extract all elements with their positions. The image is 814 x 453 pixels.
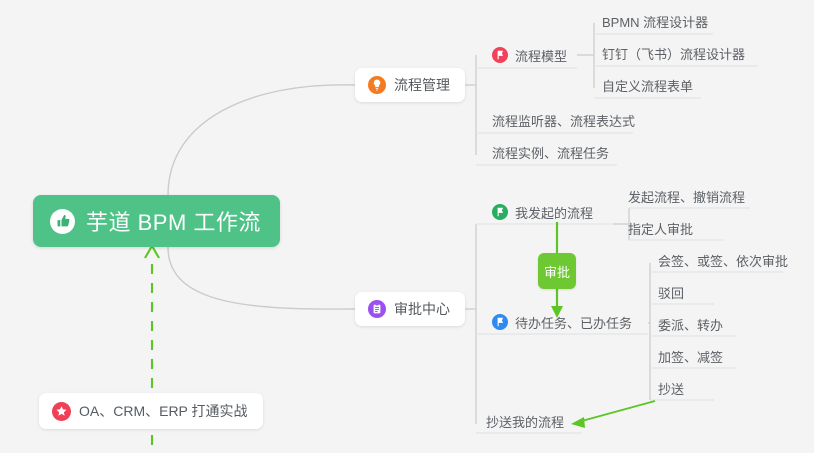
floating-node-integration[interactable]: OA、CRM、ERP 打通实战: [39, 393, 263, 429]
node-bpmn-designer[interactable]: BPMN 流程设计器: [602, 8, 708, 34]
lightbulb-icon: [368, 76, 386, 94]
clipboard-icon: [368, 300, 386, 318]
node-label: 钉钉（飞书）流程设计器: [602, 44, 745, 63]
root-node[interactable]: 芋道 BPM 工作流: [33, 195, 280, 247]
branch-label: 流程管理: [394, 75, 450, 95]
node-label: 委派、转办: [658, 315, 723, 334]
thumbs-up-icon: [50, 209, 75, 234]
root-node-label: 芋道 BPM 工作流: [86, 205, 261, 237]
node-process-instance[interactable]: 流程实例、流程任务: [492, 139, 609, 165]
flow-arrow-cc: [578, 401, 655, 422]
node-countersign[interactable]: 会签、或签、依次审批: [658, 247, 788, 273]
node-label: 抄送: [658, 379, 684, 398]
node-label: 我发起的流程: [515, 203, 593, 222]
branch-label: 审批中心: [394, 299, 450, 319]
mindmap-canvas: 芋道 BPM 工作流 流程管理 流程模型 流程监听器、流程表达式 流程实例、流程…: [0, 0, 814, 453]
node-label: 会签、或签、依次审批: [658, 251, 788, 270]
node-label: 流程监听器、流程表达式: [492, 111, 635, 130]
flag-icon: [492, 314, 508, 330]
node-process-model[interactable]: 流程模型: [492, 42, 567, 68]
node-reject[interactable]: 驳回: [658, 279, 684, 305]
node-label: 流程模型: [515, 46, 567, 65]
node-label: 指定人审批: [628, 219, 693, 238]
link-root-to-process-management: [168, 85, 355, 195]
node-start-cancel-process[interactable]: 发起流程、撤销流程: [628, 183, 745, 209]
node-my-started-processes[interactable]: 我发起的流程: [492, 199, 593, 225]
dashed-arrow-integration-head: [145, 246, 159, 258]
node-todo-done-tasks[interactable]: 待办任务、已办任务: [492, 309, 632, 335]
node-cc[interactable]: 抄送: [658, 375, 684, 401]
branch-approval-center[interactable]: 审批中心: [355, 292, 465, 326]
node-label: 自定义流程表单: [602, 76, 693, 95]
approval-flow-badge-label: 审批: [544, 262, 570, 281]
node-add-remove-sign[interactable]: 加签、减签: [658, 343, 723, 369]
node-custom-form[interactable]: 自定义流程表单: [602, 72, 693, 98]
star-icon: [52, 402, 71, 421]
node-label: BPMN 流程设计器: [602, 12, 708, 31]
node-process-listener[interactable]: 流程监听器、流程表达式: [492, 107, 635, 133]
flow-arrow-cc-head: [571, 417, 585, 428]
node-label: 待办任务、已办任务: [515, 313, 632, 332]
node-label: 驳回: [658, 283, 684, 302]
node-label: 发起流程、撤销流程: [628, 187, 745, 206]
node-assignee-approval[interactable]: 指定人审批: [628, 215, 693, 241]
node-label: 流程实例、流程任务: [492, 143, 609, 162]
flag-icon: [492, 204, 508, 220]
link-root-to-approval-center: [168, 247, 355, 309]
node-label: 加签、减签: [658, 347, 723, 366]
node-label: 抄送我的流程: [486, 412, 564, 431]
branch-process-management[interactable]: 流程管理: [355, 68, 465, 102]
node-cc-to-me[interactable]: 抄送我的流程: [486, 408, 564, 434]
flag-icon: [492, 47, 508, 63]
approval-flow-badge[interactable]: 审批: [538, 253, 576, 289]
node-dingtalk-designer[interactable]: 钉钉（飞书）流程设计器: [602, 40, 745, 66]
node-delegate-transfer[interactable]: 委派、转办: [658, 311, 723, 337]
floating-node-label: OA、CRM、ERP 打通实战: [79, 401, 248, 421]
